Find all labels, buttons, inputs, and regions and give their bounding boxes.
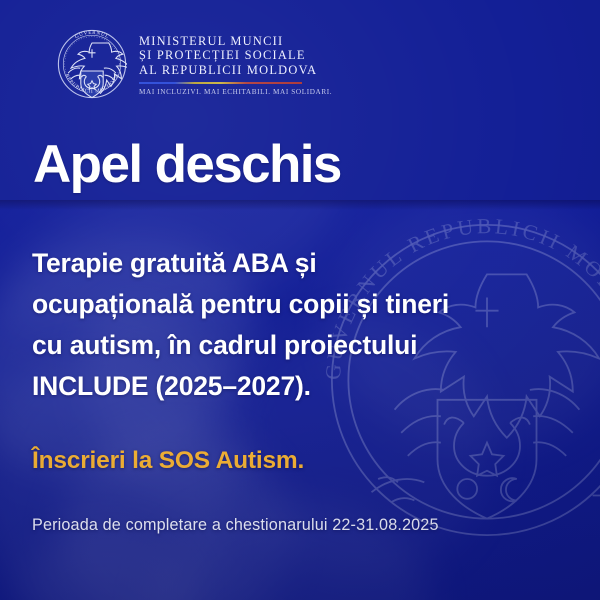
body-line: Terapie gratuită ABA și: [32, 243, 552, 284]
ministry-line-2: ȘI PROTECȚIEI SOCIALE: [139, 48, 332, 63]
photo-top-edge-shadow: [0, 200, 600, 210]
svg-text:GUVERNUL: GUVERNUL: [74, 30, 110, 40]
ministry-tagline: MAI INCLUZIVI. MAI ECHITABILI. MAI SOLID…: [139, 88, 332, 96]
moldova-government-seal-icon: GUVERNUL REPUBLICII MOLDOVA: [57, 29, 127, 99]
ministry-line-1: MINISTERUL MUNCII: [139, 34, 332, 49]
body-line: ocupațională pentru copii și tineri: [32, 284, 552, 325]
body-line: cu autism, în cadrul proiectului: [32, 325, 552, 366]
body-copy: Terapie gratuită ABA și ocupațională pen…: [32, 243, 552, 407]
poster-canvas: GUVERNUL REPUBLICII MOLDOVA: [0, 0, 600, 600]
highlight-call-to-action: Înscrieri la SOS Autism.: [32, 447, 304, 475]
ministry-logo-lockup: GUVERNUL REPUBLICII MOLDOVA MINISTERUL M…: [57, 29, 332, 99]
ministry-name-block: MINISTERUL MUNCII ȘI PROTECȚIEI SOCIALE …: [139, 32, 332, 96]
body-line: INCLUDE (2025–2027).: [32, 366, 552, 407]
ministry-line-3: AL REPUBLICII MOLDOVA: [139, 63, 332, 78]
submission-period-note: Perioada de completare a chestionarului …: [32, 516, 439, 535]
page-title: Apel deschis: [33, 137, 341, 193]
tricolor-divider: [139, 82, 302, 85]
